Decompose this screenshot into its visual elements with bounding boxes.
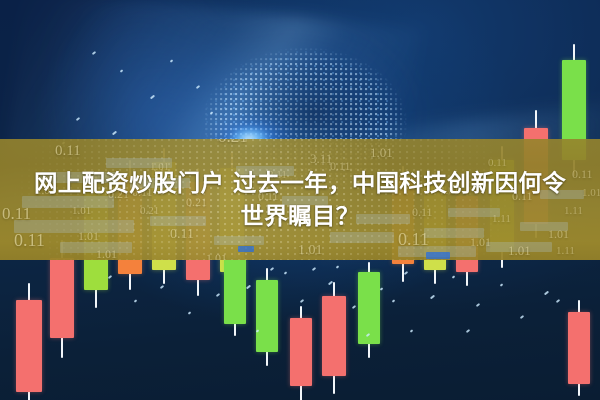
- headline-line-1: 网上配资炒股门户 过去一年，中国科技创新因何令: [4, 167, 596, 200]
- band-price-number: 1.01: [298, 244, 323, 258]
- band-price-number: 1.11: [556, 246, 575, 257]
- band-price-number: 1.01: [96, 248, 117, 260]
- band-price-number: 1.01: [370, 146, 393, 159]
- band-price-number: 0.11: [55, 144, 81, 159]
- band-data-bar: [214, 236, 264, 245]
- band-blue-marker: [426, 252, 450, 259]
- band-price-number: 1.01: [470, 236, 491, 248]
- band-data-bar: [330, 232, 394, 243]
- band-price-number: 1.01: [206, 252, 227, 260]
- band-price-number: 1.01: [508, 244, 531, 257]
- candle-body: [358, 272, 380, 344]
- candle-body: [256, 280, 278, 352]
- band-price-number: 0.21: [218, 139, 248, 145]
- candle-body: [16, 300, 42, 392]
- candle-body: [224, 258, 246, 324]
- headline-line-2: 世界瞩目？: [4, 200, 596, 233]
- banner-image: 0.110.210.111.013.110.110.111.011.011.01…: [0, 0, 600, 400]
- candle-body: [50, 258, 74, 338]
- candle-body: [568, 312, 590, 384]
- band-price-number: 3.11: [310, 152, 332, 165]
- band-blue-marker: [238, 246, 254, 252]
- candle-body: [322, 296, 346, 376]
- candle-body: [290, 318, 312, 386]
- headline-text: 网上配资炒股门户 过去一年，中国科技创新因何令 世界瞩目？: [0, 167, 600, 233]
- band-price-number: 0.11: [14, 231, 45, 249]
